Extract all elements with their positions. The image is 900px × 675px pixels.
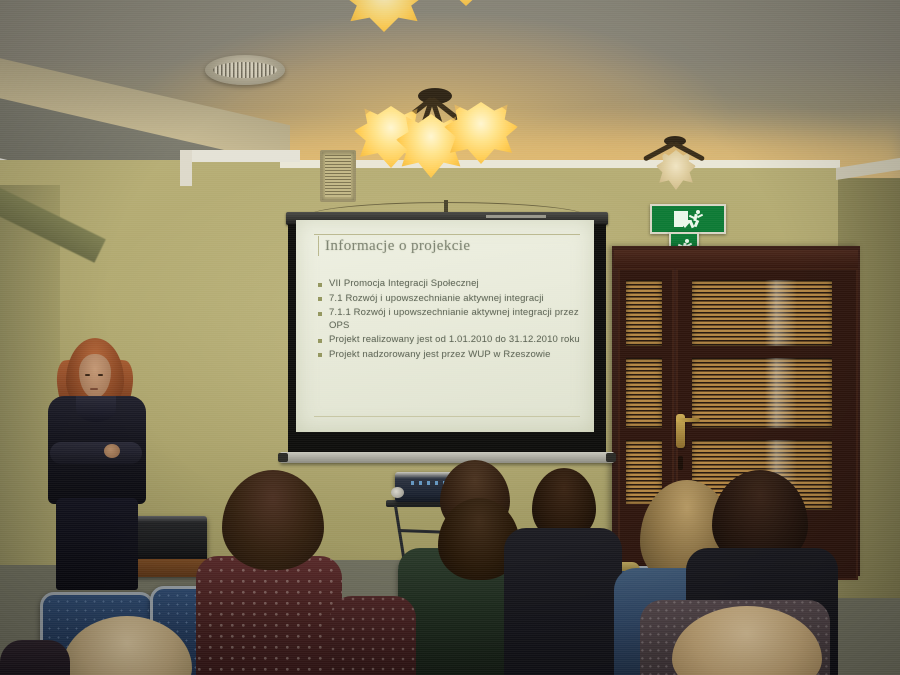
audience-torso xyxy=(196,556,342,675)
bullet-square-icon xyxy=(318,283,322,287)
door-glass-panel xyxy=(692,358,832,428)
wall-corner-trim xyxy=(180,150,300,162)
light-shade xyxy=(656,150,696,190)
audience-torso xyxy=(504,528,622,675)
presenter-mouth xyxy=(90,388,98,390)
slide-bullet-item: VII Promocja Integracji Społecznej xyxy=(318,278,590,291)
slide-bullet-text: Projekt realizowany jest od 1.01.2010 do… xyxy=(329,334,580,347)
slide-bullet-text: 7.1 Rozwój i upowszechnianie aktywnej in… xyxy=(329,293,544,306)
audience-torso xyxy=(330,596,416,675)
door-handle-lever[interactable] xyxy=(676,418,700,422)
door-glass-panel xyxy=(692,280,832,346)
slide-bullet-list: VII Promocja Integracji Społecznej 7.1 R… xyxy=(318,278,590,364)
chandelier-top xyxy=(280,0,500,46)
presenter-eye-right xyxy=(98,374,103,376)
chandelier-bloom xyxy=(344,0,424,32)
presenter-hand xyxy=(104,444,120,458)
chandelier-main xyxy=(340,84,530,180)
presenter-standing xyxy=(32,338,162,588)
slide-bottom-rule xyxy=(314,416,580,417)
screen-rail-cap-right xyxy=(606,453,616,462)
screen-wire-hook xyxy=(444,200,448,212)
door-glass-panel xyxy=(626,358,662,428)
door-header xyxy=(614,250,858,268)
slide-bullet-item: 7.1 Rozwój i upowszechnianie aktywnej in… xyxy=(318,293,590,306)
presenter-collar xyxy=(76,396,116,422)
projector-indicator-lights xyxy=(411,481,445,485)
slide-surface: Informacje o projekcie VII Promocja Inte… xyxy=(296,220,594,432)
slide-bullet-item: Projekt nadzorowany jest przez WUP w Rze… xyxy=(318,349,590,362)
audience-torso xyxy=(0,640,70,675)
wall-corner-trim-vertical xyxy=(180,150,192,186)
projection-screen: Informacje o projekcie VII Promocja Inte… xyxy=(286,212,608,480)
projector-lens xyxy=(391,487,404,498)
presenter-crossed-arms xyxy=(50,442,142,464)
round-ceiling-vent-icon xyxy=(205,55,285,85)
door-glass-panel xyxy=(626,280,662,346)
conference-room-photo: Informacje o projekcie VII Promocja Inte… xyxy=(0,0,900,675)
bullet-square-icon xyxy=(318,353,322,357)
ceiling-light-right xyxy=(630,136,720,192)
slide-bullet-text: Projekt nadzorowany jest przez WUP w Rze… xyxy=(329,349,551,362)
bullet-square-icon xyxy=(318,297,322,301)
screen-bottom-rail xyxy=(280,452,614,463)
presenter-eye-left xyxy=(85,374,90,376)
presenter-legs xyxy=(56,498,138,590)
emergency-exit-sign-icon xyxy=(650,204,726,234)
slide-title-rule xyxy=(314,234,580,235)
slide-title: Informacje o projekcie xyxy=(318,236,590,256)
bullet-square-icon xyxy=(318,339,322,343)
chandelier-bloom xyxy=(426,0,506,6)
slide-bullet-item: Projekt realizowany jest od 1.01.2010 do… xyxy=(318,334,590,347)
door-keyhole xyxy=(678,456,683,470)
slide-bullet-text: VII Promocja Integracji Społecznej xyxy=(329,278,479,291)
slide-bullet-text: 7.1.1 Rozwój i upowszechnianie aktywnej … xyxy=(329,307,590,332)
bullet-square-icon xyxy=(318,312,322,316)
slide-bullet-item: 7.1.1 Rozwój i upowszechnianie aktywnej … xyxy=(318,307,590,332)
running-man-icon xyxy=(687,210,703,228)
screen-rail-cap-left xyxy=(278,453,288,462)
